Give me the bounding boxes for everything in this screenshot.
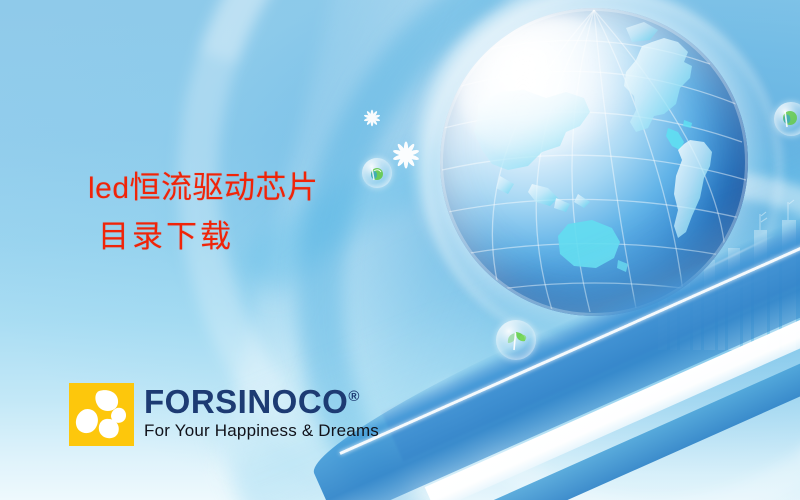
bubble-globe-right [774, 102, 800, 136]
four-petal-pinwheel-icon [69, 383, 134, 446]
flower-small [363, 109, 381, 127]
logo-tagline: For Your Happiness & Dreams [144, 421, 379, 441]
headline-line-2: 目录下载 [98, 213, 319, 261]
headline-latin: led [88, 172, 130, 205]
mini-globe-icon [362, 158, 392, 188]
headline-cjk: 恒流驱动芯片 [130, 170, 319, 205]
slide-canvas: led恒流驱动芯片 目录下载 FORSINOCO® For Your Happ [0, 0, 800, 500]
headline-line-1: led恒流驱动芯片 [88, 164, 319, 213]
registered-trademark-icon: ® [348, 388, 360, 405]
logo-wordmark-text: FORSINOCO [144, 383, 348, 420]
logo-text-block: FORSINOCO® For Your Happiness & Dreams [144, 383, 379, 441]
bubble-globe-left [362, 158, 392, 188]
logo-wordmark: FORSINOCO® [144, 385, 379, 418]
mini-globe-icon [774, 102, 800, 136]
leaf-icon [496, 320, 536, 360]
bubble-leaf-center [496, 320, 536, 360]
flower-large [392, 141, 420, 169]
company-logo: FORSINOCO® For Your Happiness & Dreams [69, 383, 379, 446]
headline: led恒流驱动芯片 目录下载 [88, 164, 319, 261]
